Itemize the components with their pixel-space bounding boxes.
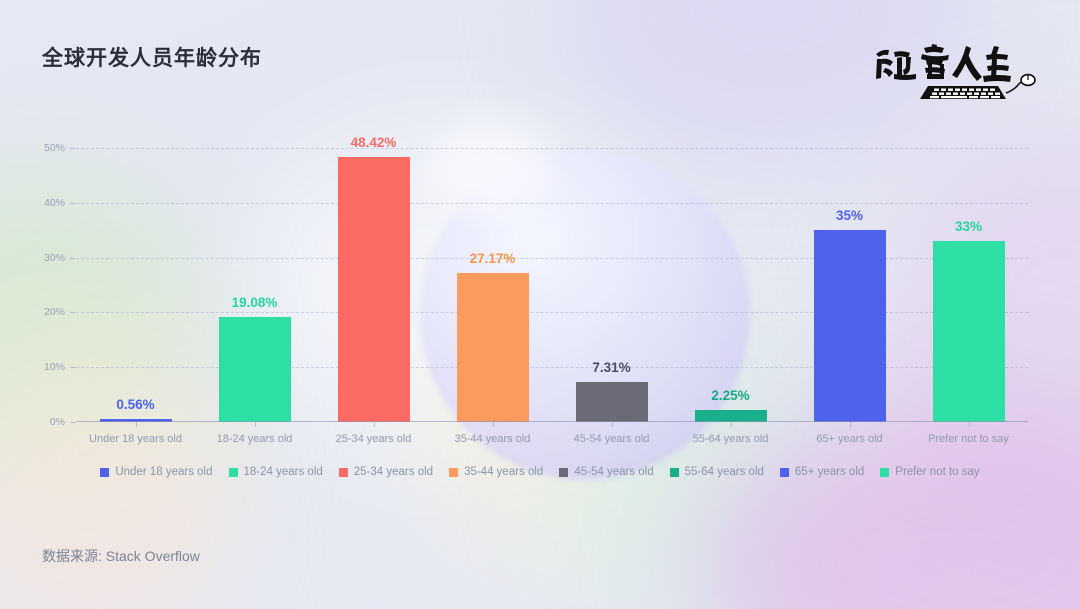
bar-slot: 48.42%25-34 years old [314,148,433,422]
y-axis-tick-40: 40% [44,197,65,209]
x-axis-tick-mark [255,422,256,427]
y-axis-tick-0: 0% [50,416,65,428]
bar-2[interactable]: 19.08% [219,317,291,422]
y-axis-tick-30: 30% [44,252,65,264]
legend-item-1[interactable]: Under 18 years old [100,466,212,478]
y-axis-tick-10: 10% [44,361,65,373]
legend-swatch-icon [339,468,348,477]
chart-legend: Under 18 years old18-24 years old25-34 y… [0,466,1080,478]
bar-slot: 33%Prefer not to say [909,148,1028,422]
legend-item-3[interactable]: 25-34 years old [339,466,433,478]
legend-label: Prefer not to say [895,466,979,478]
legend-item-2[interactable]: 18-24 years old [229,466,323,478]
x-axis-tick-mark [612,422,613,427]
page-title: 全球开发人员年龄分布 [42,42,262,72]
legend-swatch-icon [670,468,679,477]
legend-item-5[interactable]: 45-54 years old [559,466,653,478]
bar-7[interactable]: 35% [814,230,886,422]
x-axis-label: 18-24 years old [217,433,293,445]
x-axis-label: 25-34 years old [336,433,412,445]
legend-item-6[interactable]: 55-64 years old [670,466,764,478]
bar-slot: 0.56%Under 18 years old [76,148,195,422]
x-axis-tick-mark [731,422,732,427]
data-source-note: 数据来源: Stack Overflow [42,546,200,566]
x-axis-label: 55-64 years old [693,433,769,445]
slide-canvas: 全球开发人员年龄分布 [0,0,1080,609]
ma-ke-ren-sheng-logo [868,38,1038,104]
bar-value-label: 33% [955,219,982,234]
legend-swatch-icon [559,468,568,477]
x-axis-tick-mark [493,422,494,427]
bar-value-label: 2.25% [711,388,749,403]
x-axis-label: Under 18 years old [89,433,182,445]
legend-swatch-icon [880,468,889,477]
legend-swatch-icon [449,468,458,477]
legend-label: 55-64 years old [685,466,764,478]
x-axis-tick-mark [850,422,851,427]
legend-item-7[interactable]: 65+ years old [780,466,864,478]
bar-slot: 2.25%55-64 years old [671,148,790,422]
legend-label: 35-44 years old [464,466,543,478]
chart-plot-area: 50% 40% 30% 20% 10% 0% 0.56%Under 18 yea… [76,148,1028,422]
bar-value-label: 19.08% [232,295,278,310]
legend-item-8[interactable]: Prefer not to say [880,466,979,478]
bar-value-label: 7.31% [592,360,630,375]
legend-swatch-icon [780,468,789,477]
legend-label: 45-54 years old [574,466,653,478]
legend-label: 18-24 years old [244,466,323,478]
bar-value-label: 48.42% [351,135,397,150]
bar-value-label: 0.56% [116,397,154,412]
y-axis-tick-20: 20% [44,306,65,318]
legend-label: Under 18 years old [115,466,212,478]
x-axis-label: 35-44 years old [455,433,531,445]
x-axis-tick-mark [374,422,375,427]
y-axis-tick-50: 50% [44,142,65,154]
bar-slot: 35%65+ years old [790,148,909,422]
decorative-blob-purple-bottom-right [700,400,1080,609]
bar-slot: 7.31%45-54 years old [552,148,671,422]
legend-item-4[interactable]: 35-44 years old [449,466,543,478]
legend-label: 65+ years old [795,466,864,478]
x-axis-line [76,421,1028,422]
bar-series: 0.56%Under 18 years old19.08%18-24 years… [76,148,1028,422]
x-axis-label: 65+ years old [816,433,882,445]
bar-slot: 27.17%35-44 years old [433,148,552,422]
bar-4[interactable]: 27.17% [457,273,529,422]
x-axis-label: 45-54 years old [574,433,650,445]
bar-5[interactable]: 7.31% [576,382,648,422]
decorative-blob-peach-bottom-left [0,430,220,609]
bar-slot: 19.08%18-24 years old [195,148,314,422]
bar-3[interactable]: 48.42% [338,157,410,422]
legend-swatch-icon [100,468,109,477]
x-axis-tick-mark [136,422,137,427]
legend-label: 25-34 years old [354,466,433,478]
x-axis-tick-mark [969,422,970,427]
bar-value-label: 35% [836,208,863,223]
legend-swatch-icon [229,468,238,477]
bar-value-label: 27.17% [470,251,516,266]
bar-8[interactable]: 33% [933,241,1005,422]
x-axis-label: Prefer not to say [928,433,1009,445]
